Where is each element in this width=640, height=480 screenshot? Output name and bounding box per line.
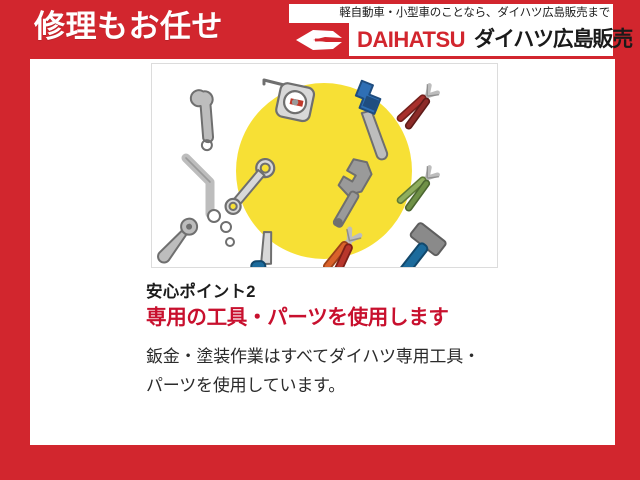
daihatsu-d-emblem-icon (289, 23, 349, 56)
combination-wrench-icon (170, 85, 237, 152)
content-text-block: 安心ポイント2 専用の工具・パーツを使用します 鈑金・塗装作業はすべてダイハツ専… (146, 281, 506, 400)
slide-root: 修理もお任せ 軽自動車・小型車のことなら、ダイハツ広島販売まで DAIHATSU… (0, 0, 640, 480)
brand-wordmark: DAIHATSU (349, 23, 465, 56)
brand-logo-block: 軽自動車・小型車のことなら、ダイハツ広島販売まで DAIHATSU ダイハツ広島… (287, 4, 615, 56)
content-card: 安心ポイント2 専用の工具・パーツを使用します 鈑金・塗装作業はすべてダイハツ専… (30, 59, 615, 445)
headline: 専用の工具・パーツを使用します (146, 306, 486, 329)
point-label: 安心ポイント2 (146, 281, 506, 303)
brand-logo-row: DAIHATSU ダイハツ広島販売 (289, 23, 613, 56)
repair-tools-illustration (151, 63, 498, 268)
page-title: 修理もお任せ (34, 7, 223, 47)
hex-allen-key-icon (186, 158, 210, 214)
brand-dealer-name: ダイハツ広島販売 (465, 23, 632, 56)
body-text: 鈑金・塗装作業はすべてダイハツ専用工具・パーツを使用しています。 (146, 342, 486, 400)
hammer-mallet-icon (386, 222, 447, 267)
pliers-red-icon (396, 83, 441, 130)
socket-ratchet-icon (154, 210, 234, 266)
header-bar: 修理もお任せ 軽自動車・小型車のことなら、ダイハツ広島販売まで DAIHATSU… (0, 0, 640, 59)
brand-tagline: 軽自動車・小型車のことなら、ダイハツ広島販売まで (289, 4, 613, 23)
